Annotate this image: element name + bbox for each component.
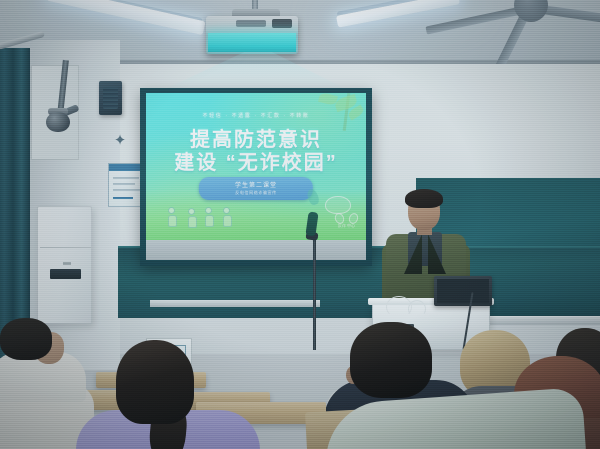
- projector-vent: [272, 19, 292, 28]
- slide-pill-line-2: 反电信网络诈骗宣传: [199, 190, 313, 196]
- slide-pill-line-1: 学生第二课堂: [199, 180, 313, 189]
- poster-text-line: [113, 183, 135, 185]
- kid-body: [168, 215, 177, 227]
- poster-header-band: [109, 164, 143, 171]
- student-hair: [116, 340, 194, 424]
- kid-head: [168, 207, 175, 214]
- laptop-screen: [437, 279, 489, 303]
- kid-body: [188, 216, 197, 228]
- kid-body: [223, 215, 232, 227]
- slide-eyebrow-text: 不轻信 · 不透露 · 不汇款 · 不转账: [146, 112, 366, 119]
- poster-icon: [108, 163, 144, 207]
- poster-text-line: [113, 177, 139, 179]
- projector-icon: [206, 16, 298, 54]
- student-hair: [350, 322, 432, 398]
- mascot-label: 反诈 中心: [338, 223, 355, 228]
- ac-display: [63, 262, 71, 265]
- security-camera-icon: [46, 112, 70, 132]
- poster-text-line: [113, 189, 141, 191]
- microphone-stand: [313, 238, 316, 350]
- air-conditioner-icon: [37, 206, 92, 324]
- student-hair: [0, 318, 52, 360]
- slide-title-line-2: 建设 “无诈校园”: [146, 146, 366, 175]
- student-body: [322, 387, 586, 449]
- kid-body: [205, 215, 214, 227]
- slide-kid-figure: [205, 207, 214, 227]
- student: [324, 396, 584, 449]
- slide-kid-figure: [188, 208, 197, 228]
- projector-lens-glow: [208, 33, 296, 52]
- classroom-photo: ✦ 不轻信 · 不透露 · 不汇款 · 不转账 提高防范意识: [0, 0, 600, 449]
- poster-text-line: [113, 197, 133, 199]
- kid-head: [188, 208, 195, 215]
- antifraud-mascot-icon: [325, 196, 351, 214]
- kid-head: [223, 207, 230, 214]
- speaker-icon: [99, 81, 122, 115]
- projector-top-panel: [236, 20, 266, 27]
- projection-screen: 不轻信 · 不透露 · 不汇款 · 不转账 提高防范意识 建设 “无诈校园” 学…: [140, 88, 372, 266]
- slide-kid-figure: [168, 207, 177, 227]
- ac-vent: [50, 269, 81, 279]
- speaker-grille: [103, 87, 118, 109]
- slide-subtitle-pill: 学生第二课堂 反电信网络诈骗宣传: [199, 177, 313, 200]
- slide-content: 不轻信 · 不透露 · 不汇款 · 不转账 提高防范意识 建设 “无诈校园” 学…: [146, 93, 366, 240]
- ac-seam: [40, 247, 91, 248]
- presenter-hair: [405, 189, 443, 208]
- screen-surface: 不轻信 · 不透露 · 不汇款 · 不转账 提高防范意识 建设 “无诈校园” 学…: [146, 93, 366, 260]
- laptop-icon: [434, 276, 492, 306]
- slide-kid-figure: [223, 207, 232, 227]
- screen-blank-band: [146, 240, 366, 260]
- kid-head: [205, 207, 212, 214]
- star-icon: ✦: [112, 133, 128, 149]
- chalk-tray-left: [150, 300, 320, 307]
- student: [84, 340, 254, 449]
